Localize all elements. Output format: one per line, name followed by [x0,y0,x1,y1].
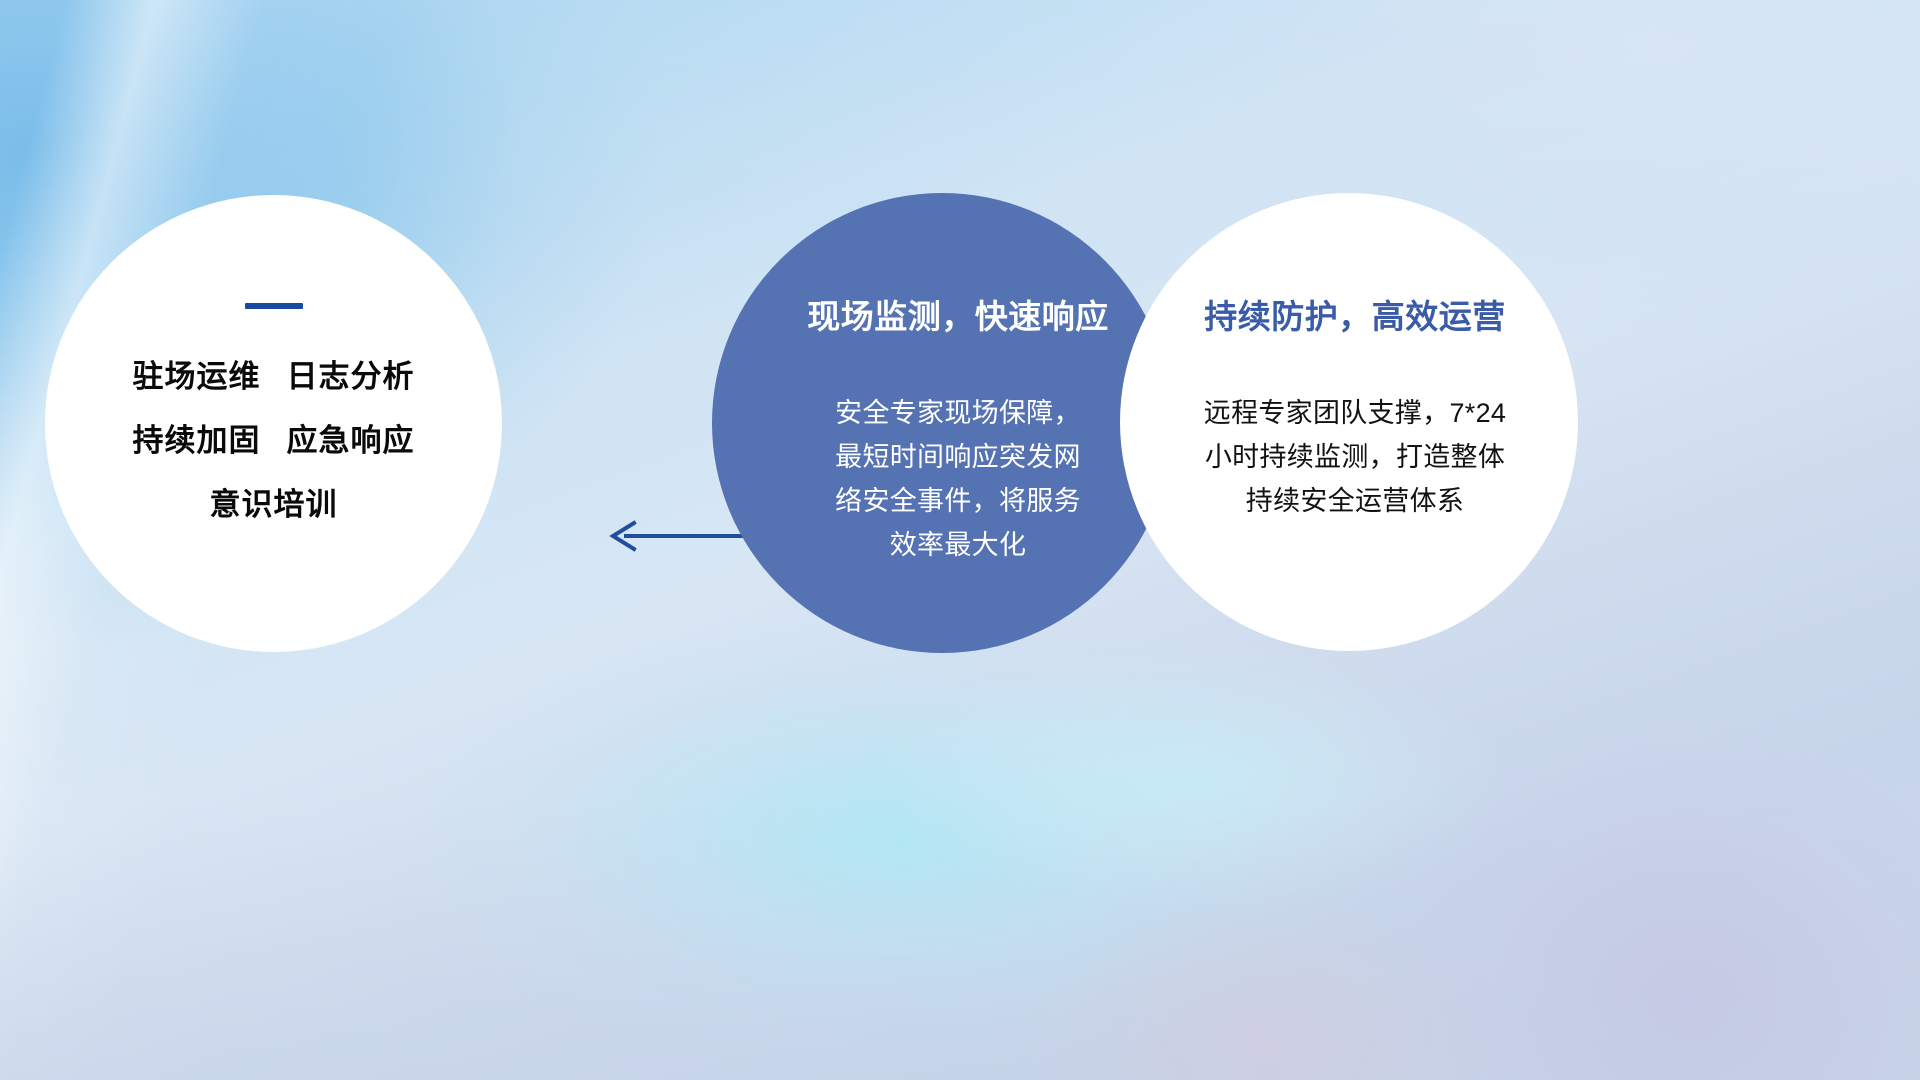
services-content: 驻场运维日志分析 持续加固应急响应 意识培训 [45,303,502,520]
onsite-body-line: 最短时间响应突发网 [758,435,1158,479]
service-row: 意识培训 [45,489,502,520]
onsite-body-line: 安全专家现场保障， [758,391,1158,435]
remote-body-line: 远程专家团队支撑，7*24 [1158,391,1552,435]
onsite-body: 安全专家现场保障， 最短时间响应突发网 络安全事件，将服务 效率最大化 [758,391,1158,567]
service-item-label: 日志分析 [287,359,415,394]
onsite-monitoring-circle[interactable]: 现场监测，快速响应 安全专家现场保障， 最短时间响应突发网 络安全事件，将服务 … [712,193,1172,653]
service-row: 持续加固应急响应 [45,425,502,456]
onsite-content: 现场监测，快速响应 安全专家现场保障， 最短时间响应突发网 络安全事件，将服务 … [758,297,1158,567]
accent-divider-dash [245,303,303,309]
remote-body-line: 小时持续监测，打造整体 [1158,435,1552,479]
services-circle[interactable]: 驻场运维日志分析 持续加固应急响应 意识培训 [45,195,502,652]
service-row: 驻场运维日志分析 [45,361,502,392]
service-item-label: 应急响应 [287,423,415,458]
service-item-label: 意识培训 [210,487,338,522]
remote-body-line: 持续安全运营体系 [1158,479,1552,523]
remote-title: 持续防护，高效运营 [1158,297,1552,337]
onsite-body-line: 络安全事件，将服务 [758,479,1158,523]
onsite-body-line: 效率最大化 [758,523,1158,567]
remote-operations-circle[interactable]: 持续防护，高效运营 远程专家团队支撑，7*24 小时持续监测，打造整体 持续安全… [1120,193,1578,651]
slide-canvas: 驻场运维日志分析 持续加固应急响应 意识培训 现场监测，快速响应 安全专家现场保… [0,0,1920,1080]
service-item-label: 持续加固 [133,423,261,458]
remote-body: 远程专家团队支撑，7*24 小时持续监测，打造整体 持续安全运营体系 [1158,391,1552,523]
service-item-label: 驻场运维 [133,359,261,394]
onsite-title: 现场监测，快速响应 [758,297,1158,337]
remote-content: 持续防护，高效运营 远程专家团队支撑，7*24 小时持续监测，打造整体 持续安全… [1158,297,1552,523]
